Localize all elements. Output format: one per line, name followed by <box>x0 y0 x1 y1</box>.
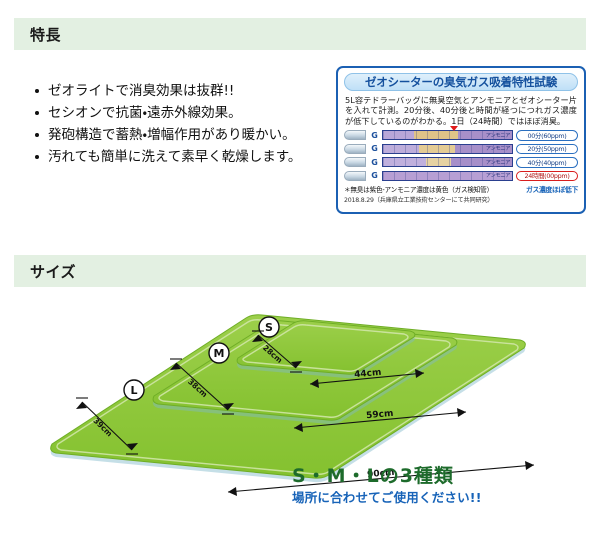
gas-detector-tube: G アンモニア <box>344 171 513 181</box>
badge-label-l: L <box>130 384 137 397</box>
tube-reading-label: 20分(50ppm) <box>516 144 578 155</box>
gas-detector-tube: G アンモニア <box>344 157 513 167</box>
tube-cap-icon <box>344 144 366 154</box>
badge-s: S <box>259 317 279 337</box>
test-box-title: ゼオシーターの臭気ガス吸着特性試験 <box>344 73 578 91</box>
tube-row: G アンモニア 40分(40ppm) <box>344 156 578 169</box>
product-page: 特長 ゼオライトで消臭効果は抜群!! セシオンで抗菌・遠赤外線効果。 発砲構造で… <box>0 0 600 545</box>
tube-g-arrow-icon: G <box>366 171 382 181</box>
tube-g-arrow-icon: G <box>366 130 382 140</box>
tube-cap-icon <box>344 130 366 140</box>
tube-barrel: アンモニア <box>382 157 513 167</box>
tube-scale-text: アンモニア <box>486 145 510 153</box>
tube-row: G アンモニア 24時間(00ppm) <box>344 170 578 183</box>
gas-detector-tube: G アンモニア <box>344 130 513 140</box>
badge-l: L <box>124 380 144 400</box>
research-credit: 2018.8.29（兵庫県立工業技術センターにて共同研究） <box>344 195 578 204</box>
list-item: セシオンで抗菌・遠赤外線効果。 <box>48 102 340 124</box>
list-item: ゼオライトで消臭効果は抜群!! <box>48 80 340 102</box>
tube-reading-label: 40分(40ppm) <box>516 157 578 168</box>
size-diagram-svg: S M L <box>0 300 600 545</box>
tube-reading-label: 00分(60ppm) <box>516 130 578 141</box>
tube-scale-text: アンモニア <box>486 131 510 139</box>
test-box-description: 5L容テドラーバッグに無臭空気とアンモニアとゼオシーター片を入れて計測。20分後… <box>344 95 578 126</box>
page-title-features: 特長 <box>14 24 61 45</box>
tube-scale-text: アンモニア <box>486 158 510 166</box>
concentration-drop-note: ガス濃度ほぼ低下 <box>526 184 578 194</box>
list-item: 汚れても簡単に洗えて素早く乾燥します。 <box>48 146 340 168</box>
page-title-size: サイズ <box>14 261 76 282</box>
tube-barrel: アンモニア <box>382 171 513 181</box>
badge-label-m: M <box>214 347 225 360</box>
gas-adsorption-test-box: ゼオシーターの臭気ガス吸着特性試験 5L容テドラーバッグに無臭空気とアンモニアと… <box>336 66 586 214</box>
color-legend-note: ＊無臭は紫色-アンモニア濃度は黄色（ガス検知管） <box>344 184 493 194</box>
size-caption-main: S・M・Lの3種類 <box>292 461 454 488</box>
section-header-size: サイズ <box>14 255 586 287</box>
feature-bullet-list: ゼオライトで消臭効果は抜群!! セシオンで抗菌・遠赤外線効果。 発砲構造で蓄熱・… <box>30 80 340 168</box>
tube-row: G アンモニア 00分(60ppm) <box>344 129 578 142</box>
tube-barrel: アンモニア <box>382 144 513 154</box>
red-pointer-icon <box>450 126 458 131</box>
section-header-features: 特長 <box>14 18 586 50</box>
tube-cap-icon <box>344 157 366 167</box>
tube-scale-text: アンモニア <box>486 172 510 180</box>
gas-detector-tube-group: G アンモニア 00分(60ppm) G <box>344 129 578 182</box>
size-diagram: S M L <box>0 300 600 545</box>
tube-row: G アンモニア 20分(50ppm) <box>344 143 578 156</box>
tube-barrel: アンモニア <box>382 130 513 140</box>
badge-label-s: S <box>265 321 273 334</box>
list-item: 発砲構造で蓄熱・増幅作用があり暖かい。 <box>48 124 340 146</box>
size-caption-sub: 場所に合わせてご使用ください!! <box>292 487 482 506</box>
badge-m: M <box>209 343 229 363</box>
test-box-note-row: ＊無臭は紫色-アンモニア濃度は黄色（ガス検知管） ガス濃度ほぼ低下 <box>344 184 578 194</box>
tube-g-arrow-icon: G <box>366 144 382 154</box>
gas-detector-tube: G アンモニア <box>344 144 513 154</box>
tube-reading-label: 24時間(00ppm) <box>516 171 578 182</box>
tube-g-arrow-icon: G <box>366 157 382 167</box>
tube-cap-icon <box>344 171 366 181</box>
